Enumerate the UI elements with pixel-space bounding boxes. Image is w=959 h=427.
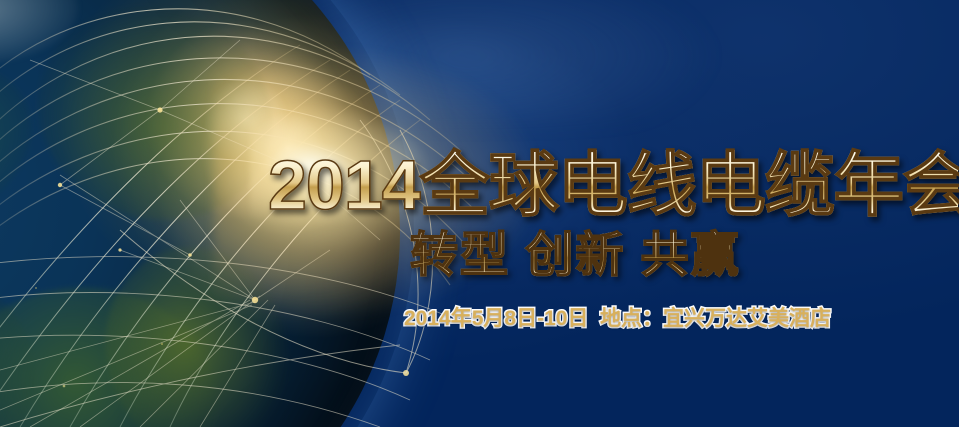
event-venue: 地点：宜兴万达艾美酒店	[600, 306, 831, 332]
conference-banner: 2014全球电线电缆年会 转型 创新 共赢 2014年5月8日-10日 地点：宜…	[0, 0, 959, 427]
event-date: 2014年5月8日-10日	[404, 306, 588, 332]
banner-subtitle: 转型 创新 共赢	[410, 232, 959, 280]
text-block: 2014全球电线电缆年会 转型 创新 共赢 2014年5月8日-10日 地点：宜…	[0, 0, 959, 427]
banner-info-line: 2014年5月8日-10日 地点：宜兴万达艾美酒店	[404, 306, 959, 332]
banner-title: 2014全球电线电缆年会	[268, 150, 958, 220]
